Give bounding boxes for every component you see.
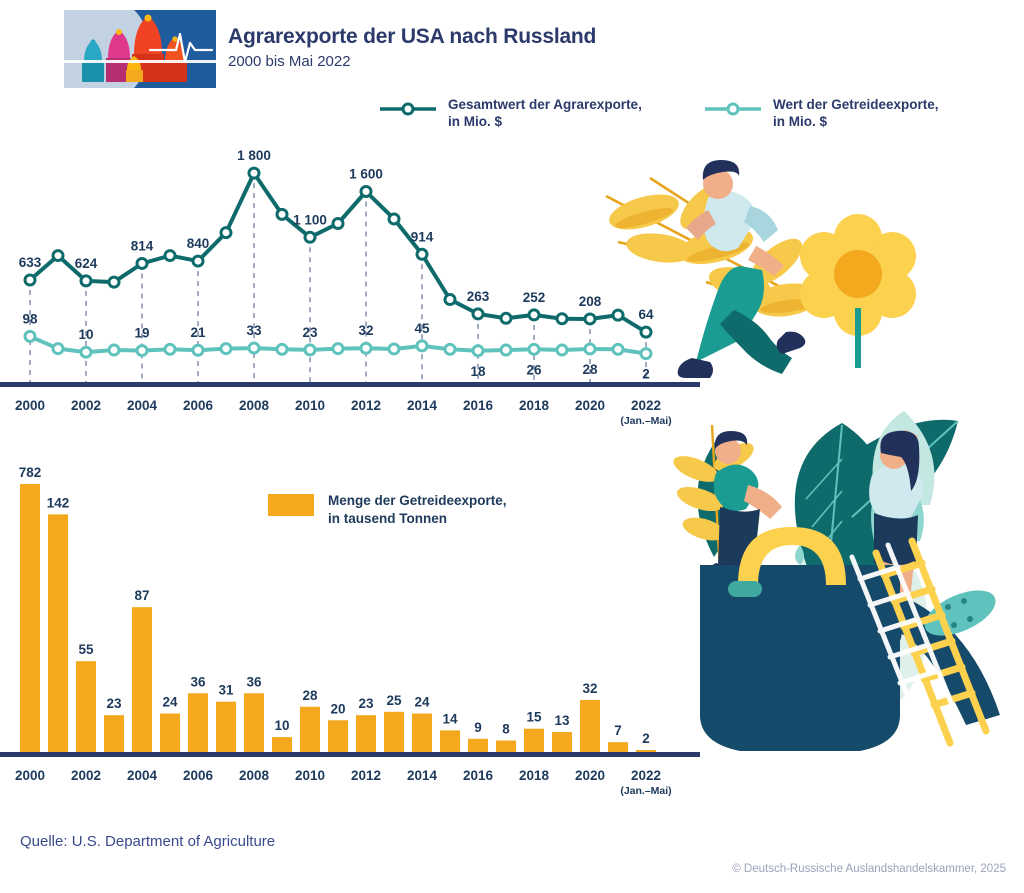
line-marker-dark-icon bbox=[380, 102, 436, 121]
x-tick-2012: 2012 bbox=[351, 398, 381, 413]
bar-value-label: 782 bbox=[19, 465, 42, 480]
legend-item-gesamtwert: Gesamtwert der Agrarexporte, in Mio. $ bbox=[380, 96, 642, 130]
bar-value-label: 10 bbox=[274, 718, 289, 733]
legend-label-line1: Wert der Getreideexporte, bbox=[773, 97, 939, 112]
bar bbox=[20, 484, 40, 754]
bar bbox=[132, 607, 152, 754]
line-value-label: 33 bbox=[246, 323, 262, 338]
line-value-label: 18 bbox=[470, 364, 486, 379]
legend-label-line2: in Mio. $ bbox=[448, 114, 502, 129]
bar-value-label: 36 bbox=[246, 674, 262, 689]
bar-value-label: 7 bbox=[614, 723, 622, 738]
bar-x-tick-sublabel: (Jan.–Mai) bbox=[620, 785, 671, 797]
bar-value-label: 14 bbox=[442, 711, 458, 726]
bar-x-tick-2012: 2012 bbox=[351, 768, 381, 783]
legend-label-getreide-wert: Wert der Getreideexporte, in Mio. $ bbox=[773, 96, 939, 130]
legend-label-gesamtwert: Gesamtwert der Agrarexporte, in Mio. $ bbox=[448, 96, 642, 130]
x-tick-2010: 2010 bbox=[295, 398, 325, 413]
line-value-label: 624 bbox=[75, 256, 98, 271]
bar-value-label: 142 bbox=[47, 495, 70, 510]
line-value-label: 32 bbox=[358, 323, 373, 338]
bar-x-tick-2014: 2014 bbox=[407, 768, 437, 783]
line-marker-light-icon bbox=[705, 102, 761, 121]
bar bbox=[524, 729, 544, 754]
line-value-label: 814 bbox=[131, 238, 154, 253]
legend-label-line2: in Mio. $ bbox=[773, 114, 827, 129]
infographic-page: Agrarexporte der USA nach Russland 2000 … bbox=[0, 0, 1024, 893]
bar-value-label: 36 bbox=[190, 674, 206, 689]
bar-x-tick-2020: 2020 bbox=[575, 768, 605, 783]
bar-value-label: 31 bbox=[218, 683, 234, 698]
bar-value-label: 9 bbox=[474, 720, 482, 735]
bar-chart-x-axis: 2000200220042006200820102012201420162018… bbox=[0, 758, 700, 804]
bar-x-tick-2000: 2000 bbox=[15, 768, 45, 783]
bar-x-tick-2018: 2018 bbox=[519, 768, 549, 783]
bar-value-label: 8 bbox=[502, 722, 510, 737]
runner-with-wheat-illustration bbox=[600, 150, 1024, 390]
bar bbox=[160, 714, 180, 755]
bar-value-label: 20 bbox=[330, 701, 345, 716]
bar bbox=[48, 514, 68, 754]
bar-x-tick-2008: 2008 bbox=[239, 768, 269, 783]
watering-can-with-gardeners-illustration bbox=[660, 395, 1024, 760]
bar bbox=[552, 732, 572, 754]
line-value-label: 98 bbox=[22, 311, 38, 326]
ahk-russland-logo bbox=[64, 10, 216, 88]
line-value-label: 28 bbox=[582, 362, 598, 377]
bar-x-tick-2004: 2004 bbox=[127, 768, 157, 783]
legend-item-getreide-wert: Wert der Getreideexporte, in Mio. $ bbox=[705, 96, 939, 130]
title-block: Agrarexporte der USA nach Russland 2000 … bbox=[228, 24, 596, 72]
bar-value-label: 23 bbox=[106, 696, 122, 711]
bar bbox=[76, 661, 96, 754]
source-note: Quelle: U.S. Department of Agriculture bbox=[20, 833, 275, 850]
line-value-label: 1 100 bbox=[293, 212, 327, 227]
bar-value-label: 15 bbox=[526, 710, 542, 725]
bar bbox=[440, 730, 460, 754]
line-value-label: 252 bbox=[523, 290, 546, 305]
bar bbox=[244, 693, 264, 754]
x-tick-2000: 2000 bbox=[15, 398, 45, 413]
copyright-note: © Deutsch-Russische Auslandshandelskamme… bbox=[732, 863, 1006, 875]
bar bbox=[328, 720, 348, 754]
line-value-label: 914 bbox=[411, 229, 434, 244]
line-value-label: 633 bbox=[19, 255, 42, 270]
bar bbox=[104, 715, 124, 754]
bar bbox=[580, 700, 600, 754]
bar-x-tick-2022: 2022(Jan.–Mai) bbox=[620, 768, 671, 797]
bar-value-label: 24 bbox=[414, 695, 430, 710]
x-tick-2020: 2020 bbox=[575, 398, 605, 413]
page-subtitle: 2000 bis Mai 2022 bbox=[228, 52, 596, 72]
x-tick-2016: 2016 bbox=[463, 398, 493, 413]
line-value-label: 1 800 bbox=[237, 150, 271, 163]
bar-x-tick-2002: 2002 bbox=[71, 768, 101, 783]
bar bbox=[384, 712, 404, 754]
bar bbox=[412, 714, 432, 755]
x-tick-2014: 2014 bbox=[407, 398, 437, 413]
legend-label-line1: Gesamtwert der Agrarexporte, bbox=[448, 97, 642, 112]
line-value-label: 19 bbox=[134, 326, 149, 341]
bar bbox=[300, 707, 320, 754]
line-value-label: 23 bbox=[302, 325, 318, 340]
bar-value-label: 24 bbox=[162, 695, 178, 710]
bar-x-tick-2010: 2010 bbox=[295, 768, 325, 783]
bar-value-label: 13 bbox=[554, 713, 570, 728]
line-value-label: 10 bbox=[78, 327, 93, 342]
bar-value-label: 2 bbox=[642, 731, 650, 746]
x-tick-2008: 2008 bbox=[239, 398, 269, 413]
page-title: Agrarexporte der USA nach Russland bbox=[228, 24, 596, 50]
bar bbox=[216, 702, 236, 754]
header: Agrarexporte der USA nach Russland 2000 … bbox=[0, 0, 1024, 96]
line-chart-x-axis: 2000200220042006200820102012201420162018… bbox=[0, 388, 700, 434]
bar-value-label: 32 bbox=[582, 681, 597, 696]
bar bbox=[356, 715, 376, 754]
bar-value-label: 25 bbox=[386, 693, 402, 708]
bar-chart: 7821425523872436313610282023252414981513… bbox=[0, 450, 700, 760]
bar-value-label: 87 bbox=[134, 588, 149, 603]
x-tick-2018: 2018 bbox=[519, 398, 549, 413]
line-chart-legend: Gesamtwert der Agrarexporte, in Mio. $ W… bbox=[380, 96, 1020, 146]
bar-value-label: 28 bbox=[302, 688, 318, 703]
line-value-label: 21 bbox=[190, 325, 206, 340]
line-value-label: 263 bbox=[467, 289, 490, 304]
bar-value-label: 23 bbox=[358, 696, 374, 711]
line-chart: 981019213323324518262826336248148401 800… bbox=[0, 150, 700, 390]
x-tick-2002: 2002 bbox=[71, 398, 101, 413]
bar-x-tick-2006: 2006 bbox=[183, 768, 213, 783]
line-value-label: 45 bbox=[414, 321, 430, 336]
x-tick-2006: 2006 bbox=[183, 398, 213, 413]
bar bbox=[188, 693, 208, 754]
bar-x-tick-2016: 2016 bbox=[463, 768, 493, 783]
bar-value-label: 55 bbox=[78, 642, 94, 657]
line-value-label: 1 600 bbox=[349, 166, 383, 181]
line-value-label: 26 bbox=[526, 362, 542, 377]
x-tick-2004: 2004 bbox=[127, 398, 157, 413]
line-value-label: 840 bbox=[187, 236, 210, 251]
line-value-label: 208 bbox=[579, 294, 602, 309]
